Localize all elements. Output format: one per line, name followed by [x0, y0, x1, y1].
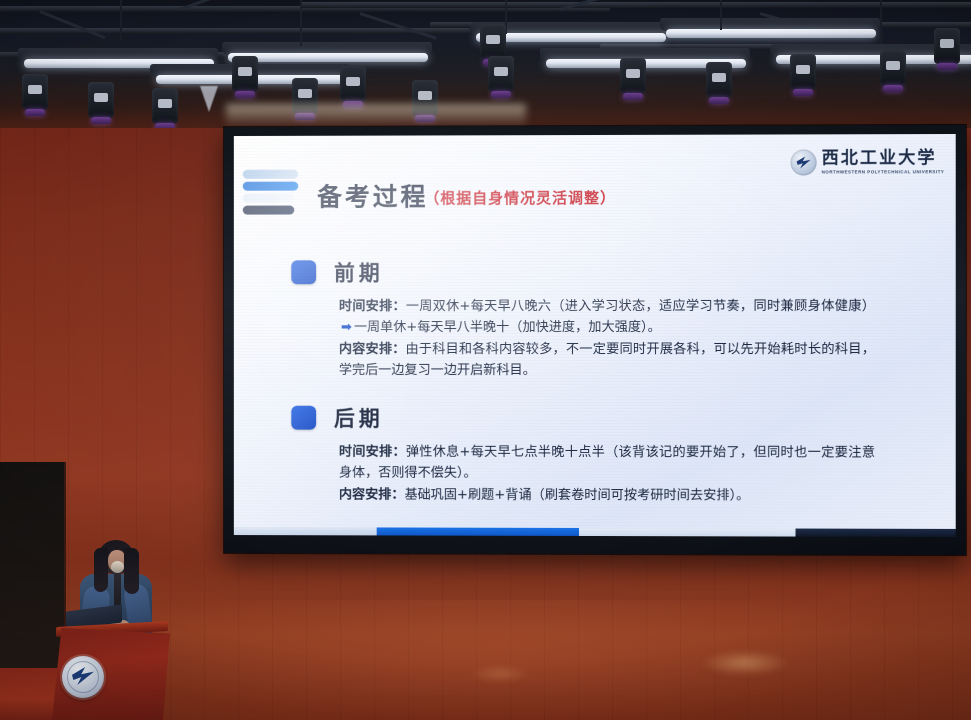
- auditorium-scene: 备考过程 （根据自身情况灵活调整） 西北工业大学 NORTHWESTERN PO…: [0, 0, 971, 720]
- scene-vignette: [0, 0, 971, 720]
